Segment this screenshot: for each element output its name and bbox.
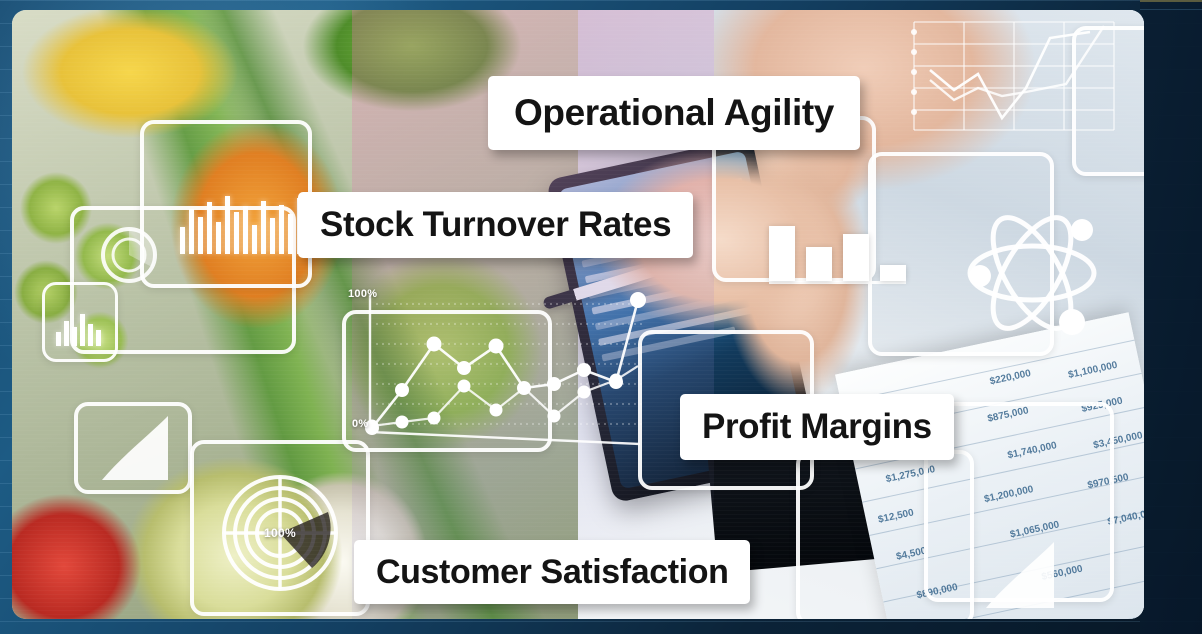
bar-chart-bars [56, 310, 101, 346]
label-text: Profit Margins [702, 407, 932, 447]
hud-frame-11 [796, 450, 974, 619]
label-text: Operational Agility [514, 92, 834, 134]
banner-frame: $1,125,000 $220,000 $1,100,000 $3,100,00… [0, 0, 1202, 634]
banner-collage: $1,125,000 $220,000 $1,100,000 $3,100,00… [12, 10, 1144, 619]
growth-curve-icon [96, 410, 182, 486]
line-chart-axis-min-label: 0% [352, 418, 369, 430]
label-customer-satisfaction: Customer Satisfaction [354, 540, 750, 604]
frame-right-tech-strip [1140, 0, 1202, 634]
line-chart-icon: 100% 0% [348, 286, 648, 456]
radial-gauge-value: 100% [264, 526, 296, 540]
bar-chart-icon [769, 208, 906, 284]
bar-chart-bars [769, 208, 906, 284]
label-operational-agility: Operational Agility [488, 76, 860, 150]
atom-icon [956, 206, 1108, 340]
line-chart-axis-max-label: 100% [348, 288, 377, 300]
label-profit-margins: Profit Margins [680, 394, 954, 460]
donut-chart-icon [96, 222, 162, 288]
label-stock-turnover-rates: Stock Turnover Rates [298, 192, 693, 258]
growth-curve-icon [980, 538, 1070, 616]
label-text: Customer Satisfaction [376, 553, 728, 592]
bar-chart-icon [56, 310, 101, 346]
label-text: Stock Turnover Rates [320, 205, 671, 245]
line-chart-grid-icon [908, 18, 1118, 136]
radial-gauge-icon: 100% [216, 472, 344, 594]
